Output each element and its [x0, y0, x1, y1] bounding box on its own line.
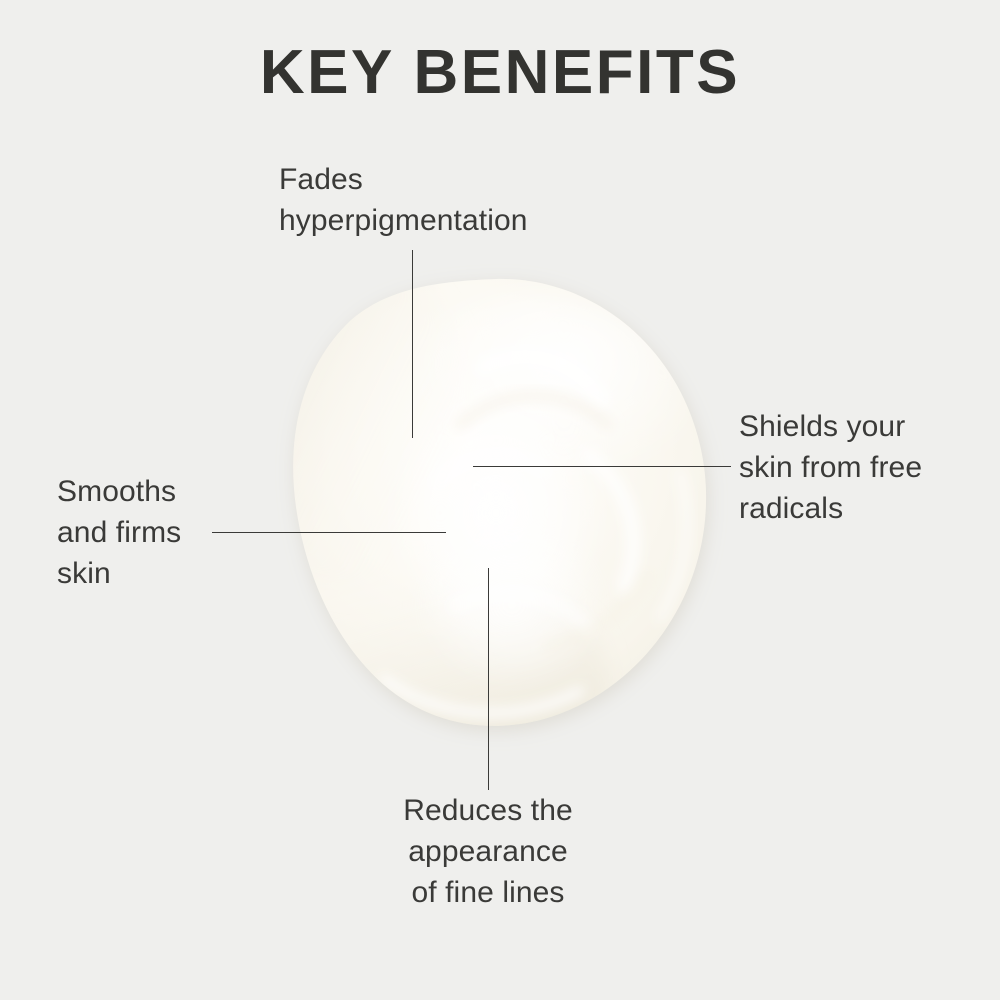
- callout-smooths-line1: Smooths: [57, 472, 257, 513]
- callout-fades-line2: hyperpigmentation: [279, 201, 619, 242]
- callout-shields-line1: Shields your: [739, 407, 989, 448]
- infographic-canvas: KEY BENEFITS: [0, 0, 1000, 1000]
- callout-fades-line1: Fades: [279, 160, 619, 201]
- connector-line-reduces: [488, 568, 489, 790]
- connector-line-fades: [412, 250, 413, 438]
- callout-fades-hyperpigmentation: Fades hyperpigmentation: [279, 160, 619, 242]
- page-title: KEY BENEFITS: [0, 42, 1000, 104]
- callout-reduces-line3: of fine lines: [363, 873, 613, 914]
- cream-swatch-image: [288, 275, 718, 730]
- callout-smooths-firms-skin: Smooths and firms skin: [57, 472, 257, 594]
- connector-line-shields: [473, 466, 731, 467]
- callout-smooths-line2: and firms: [57, 513, 257, 554]
- callout-reduces-fine-lines: Reduces the appearance of fine lines: [363, 791, 613, 913]
- callout-shields-free-radicals: Shields your skin from free radicals: [739, 407, 989, 529]
- callout-smooths-line3: skin: [57, 554, 257, 595]
- callout-shields-line2: skin from free: [739, 448, 989, 489]
- callout-reduces-line2: appearance: [363, 832, 613, 873]
- callout-reduces-line1: Reduces the: [363, 791, 613, 832]
- callout-shields-line3: radicals: [739, 489, 989, 530]
